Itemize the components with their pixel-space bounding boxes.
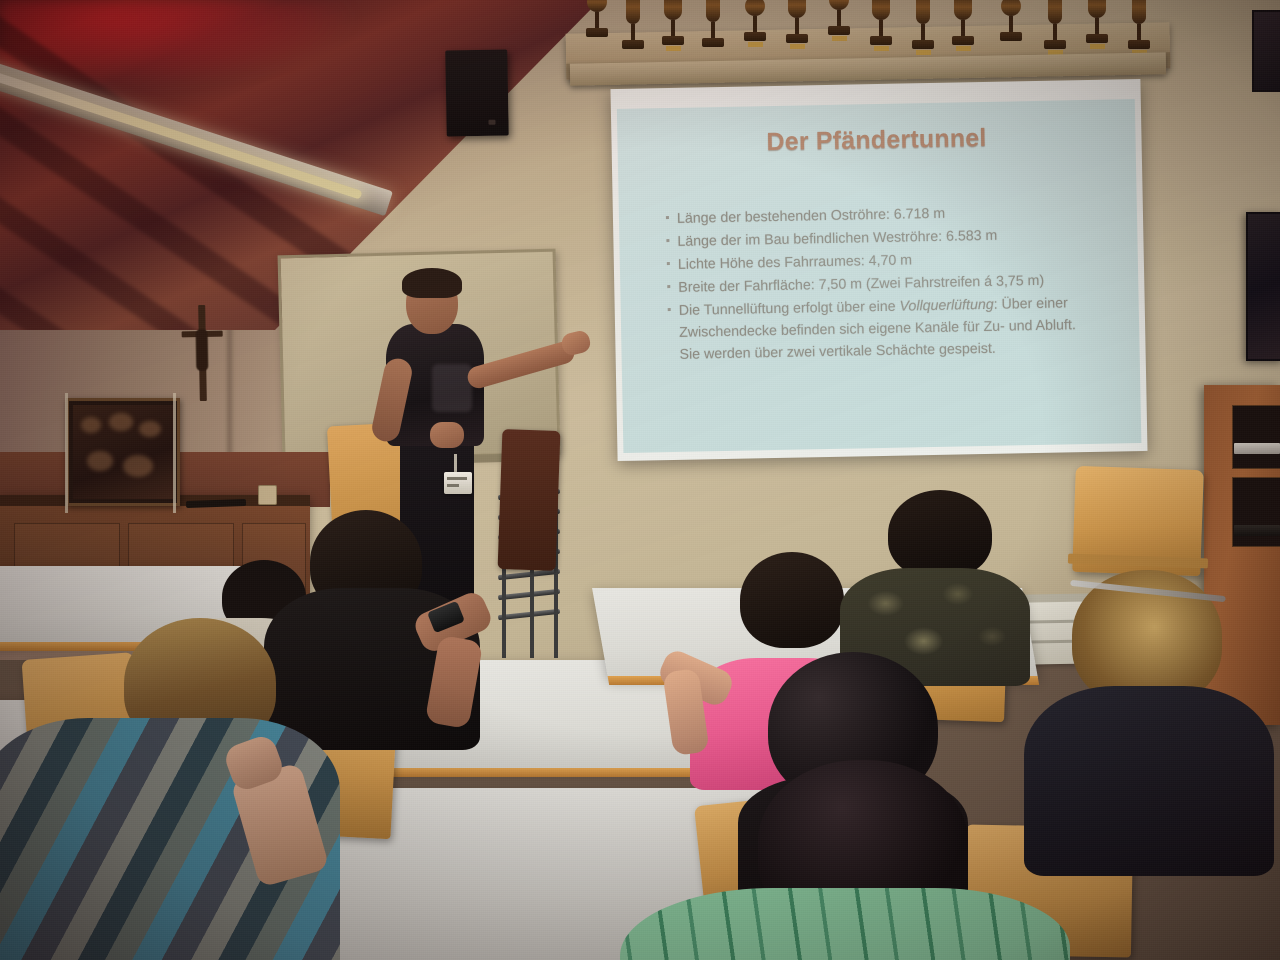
slide-bullet: Die Tunnellüftung erfolgt über eine Voll… [667,292,1100,366]
power-outlet[interactable] [258,485,277,505]
presenter-left-hand [430,422,464,448]
display-case-contents [73,405,173,499]
av-receiver[interactable] [1234,443,1280,454]
child-hair [888,490,992,578]
badge-lanyard [454,454,457,474]
presenter-hair [402,268,462,298]
upper-wall-art [1252,10,1280,92]
pa-speaker [445,49,508,136]
child-torso [1024,686,1274,876]
presenter-shirt-print [432,364,472,412]
child-torso [620,888,1070,960]
av-player[interactable] [1234,525,1280,536]
framed-display-case [66,398,180,506]
speaker-badge [488,120,495,125]
framed-wall-art [1246,212,1280,361]
slide-bullet-list: Länge der bestehenden Oströhre: 6.718 m … [665,200,1100,366]
slide-title: Der Pfändertunnel [617,121,1135,160]
projection-screen: Der Pfändertunnel Länge der bestehenden … [610,79,1147,461]
projected-slide: Der Pfändertunnel Länge der bestehenden … [617,99,1142,453]
slide-body: Länge der bestehenden Oströhre: 6.718 m … [665,200,1100,367]
wall-crucifix [177,305,227,402]
photo-scene: Der Pfändertunnel Länge der bestehenden … [0,0,1280,960]
child-hair [740,552,844,648]
id-badge [444,472,472,494]
